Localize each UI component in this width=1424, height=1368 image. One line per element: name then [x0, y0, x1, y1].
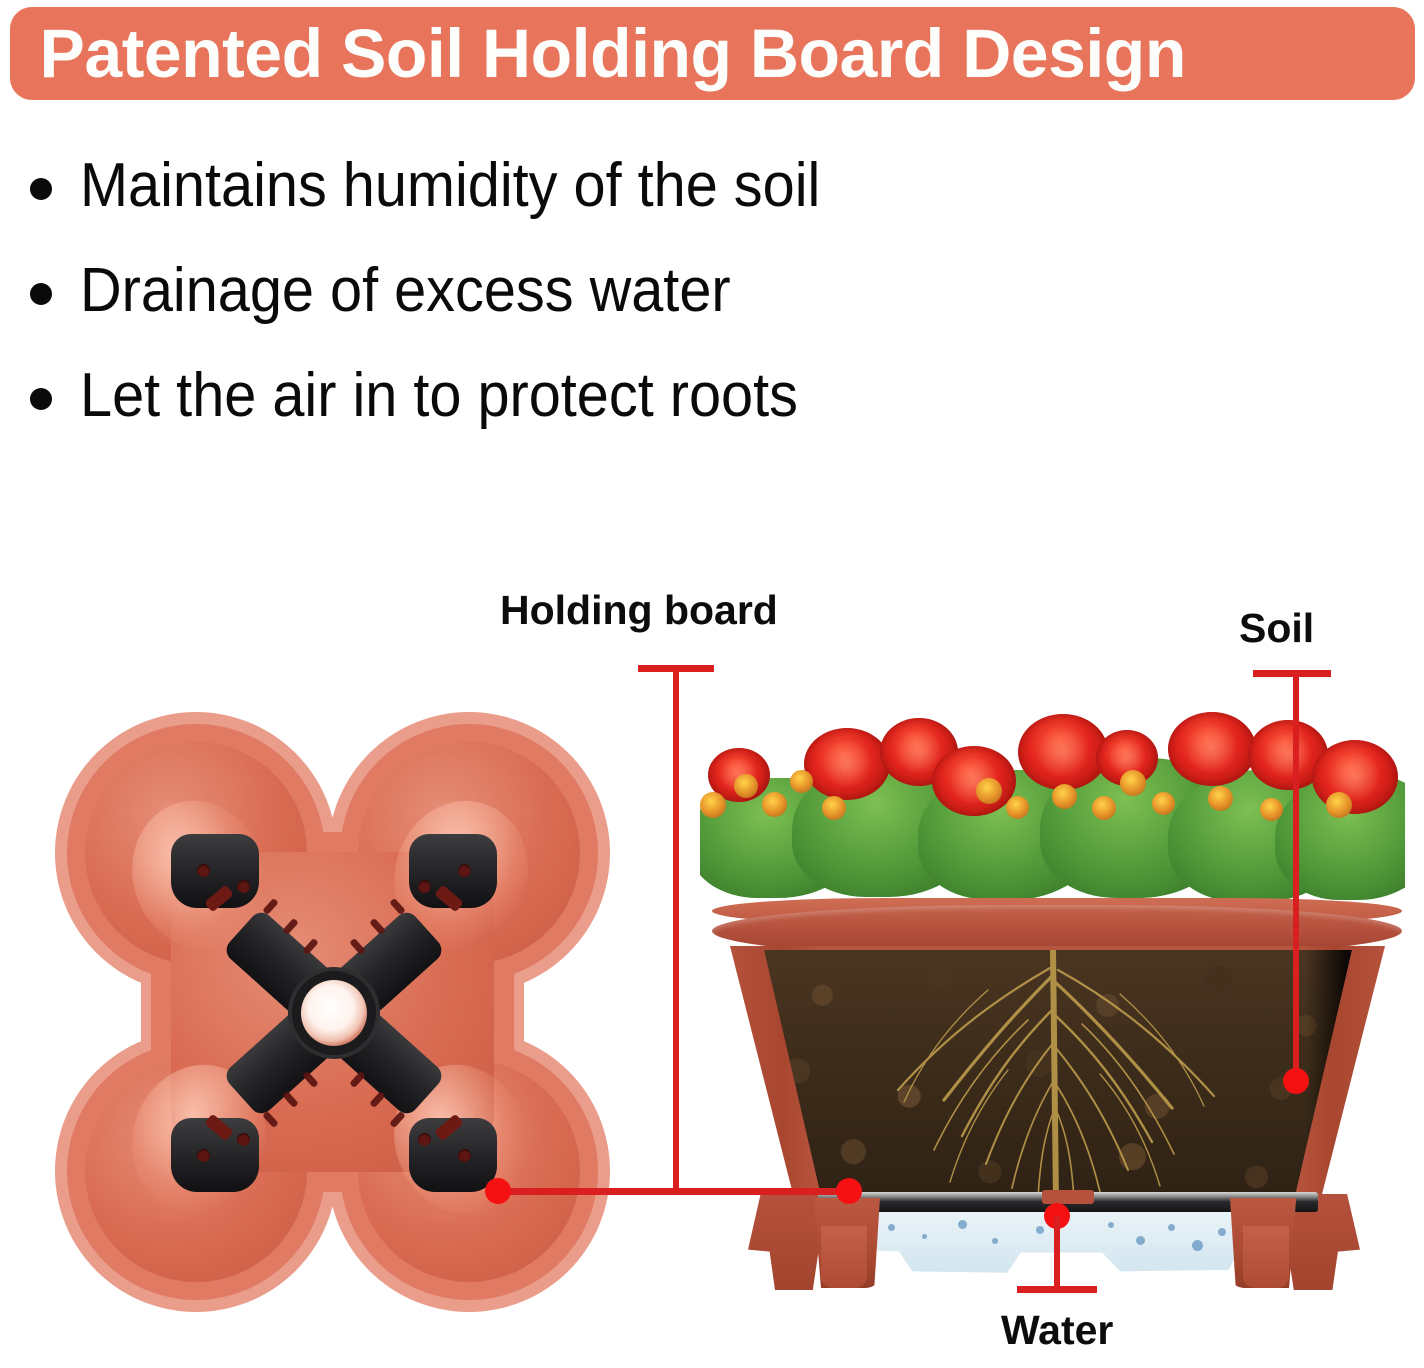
leader-dot-soil	[1283, 1068, 1309, 1094]
leader-bar-water	[1017, 1286, 1097, 1293]
feature-list: Maintains humidity of the soil Drainage …	[30, 150, 1130, 465]
pot-foot	[1230, 1198, 1302, 1288]
leader-stem-holding-board	[673, 665, 679, 1192]
flower-cluster	[700, 700, 1405, 922]
feature-label: Maintains humidity of the soil	[80, 150, 820, 222]
root-system	[748, 950, 1368, 1202]
list-item: Let the air in to protect roots	[30, 360, 1130, 465]
board-hole	[418, 880, 431, 893]
board-hole	[418, 1133, 431, 1146]
callout-label-water: Water	[1001, 1310, 1113, 1351]
board-hole	[197, 864, 210, 877]
leader-stem-soil	[1293, 670, 1299, 1082]
board-notch	[1042, 1190, 1094, 1204]
board-perforation	[302, 1071, 319, 1088]
callout-label-holding-board: Holding board	[500, 590, 778, 631]
list-item: Maintains humidity of the soil	[30, 150, 1130, 255]
soil-fill	[748, 950, 1368, 1202]
board-perforation	[369, 918, 386, 935]
board-perforation	[349, 1071, 366, 1088]
leader-dot-holding-board-right	[836, 1178, 862, 1204]
soil-holding-board-part	[175, 840, 493, 1186]
leader-dot-holding-board-left	[485, 1178, 511, 1204]
planter-top-view-image	[55, 712, 610, 1312]
bullet-dot-icon	[30, 178, 52, 200]
board-perforation	[369, 1091, 386, 1108]
feature-label: Let the air in to protect roots	[80, 360, 798, 432]
leader-bar-soil	[1253, 670, 1331, 677]
bullet-dot-icon	[30, 283, 52, 305]
pot-foot	[808, 1198, 880, 1288]
board-perforation	[262, 1111, 279, 1128]
board-perforation	[262, 898, 279, 915]
header-banner: Patented Soil Holding Board Design	[10, 7, 1415, 100]
leader-stem-water	[1054, 1216, 1060, 1292]
bullet-dot-icon	[30, 388, 52, 410]
board-perforation	[389, 1111, 406, 1128]
infographic-page: Patented Soil Holding Board Design Maint…	[0, 0, 1424, 1368]
board-hole	[237, 880, 250, 893]
board-perforation	[282, 918, 299, 935]
leader-line-holding-board	[498, 1188, 850, 1195]
board-hole	[197, 1149, 210, 1162]
page-title: Patented Soil Holding Board Design	[10, 19, 1186, 88]
callout-label-soil: Soil	[1239, 608, 1314, 649]
board-perforation	[282, 1091, 299, 1108]
list-item: Drainage of excess water	[30, 255, 1130, 360]
board-hole	[458, 864, 471, 877]
board-hole	[237, 1133, 250, 1146]
drainage-hole	[301, 980, 367, 1046]
board-hole	[458, 1149, 471, 1162]
board-perforation	[389, 898, 406, 915]
feature-label: Drainage of excess water	[80, 255, 731, 327]
